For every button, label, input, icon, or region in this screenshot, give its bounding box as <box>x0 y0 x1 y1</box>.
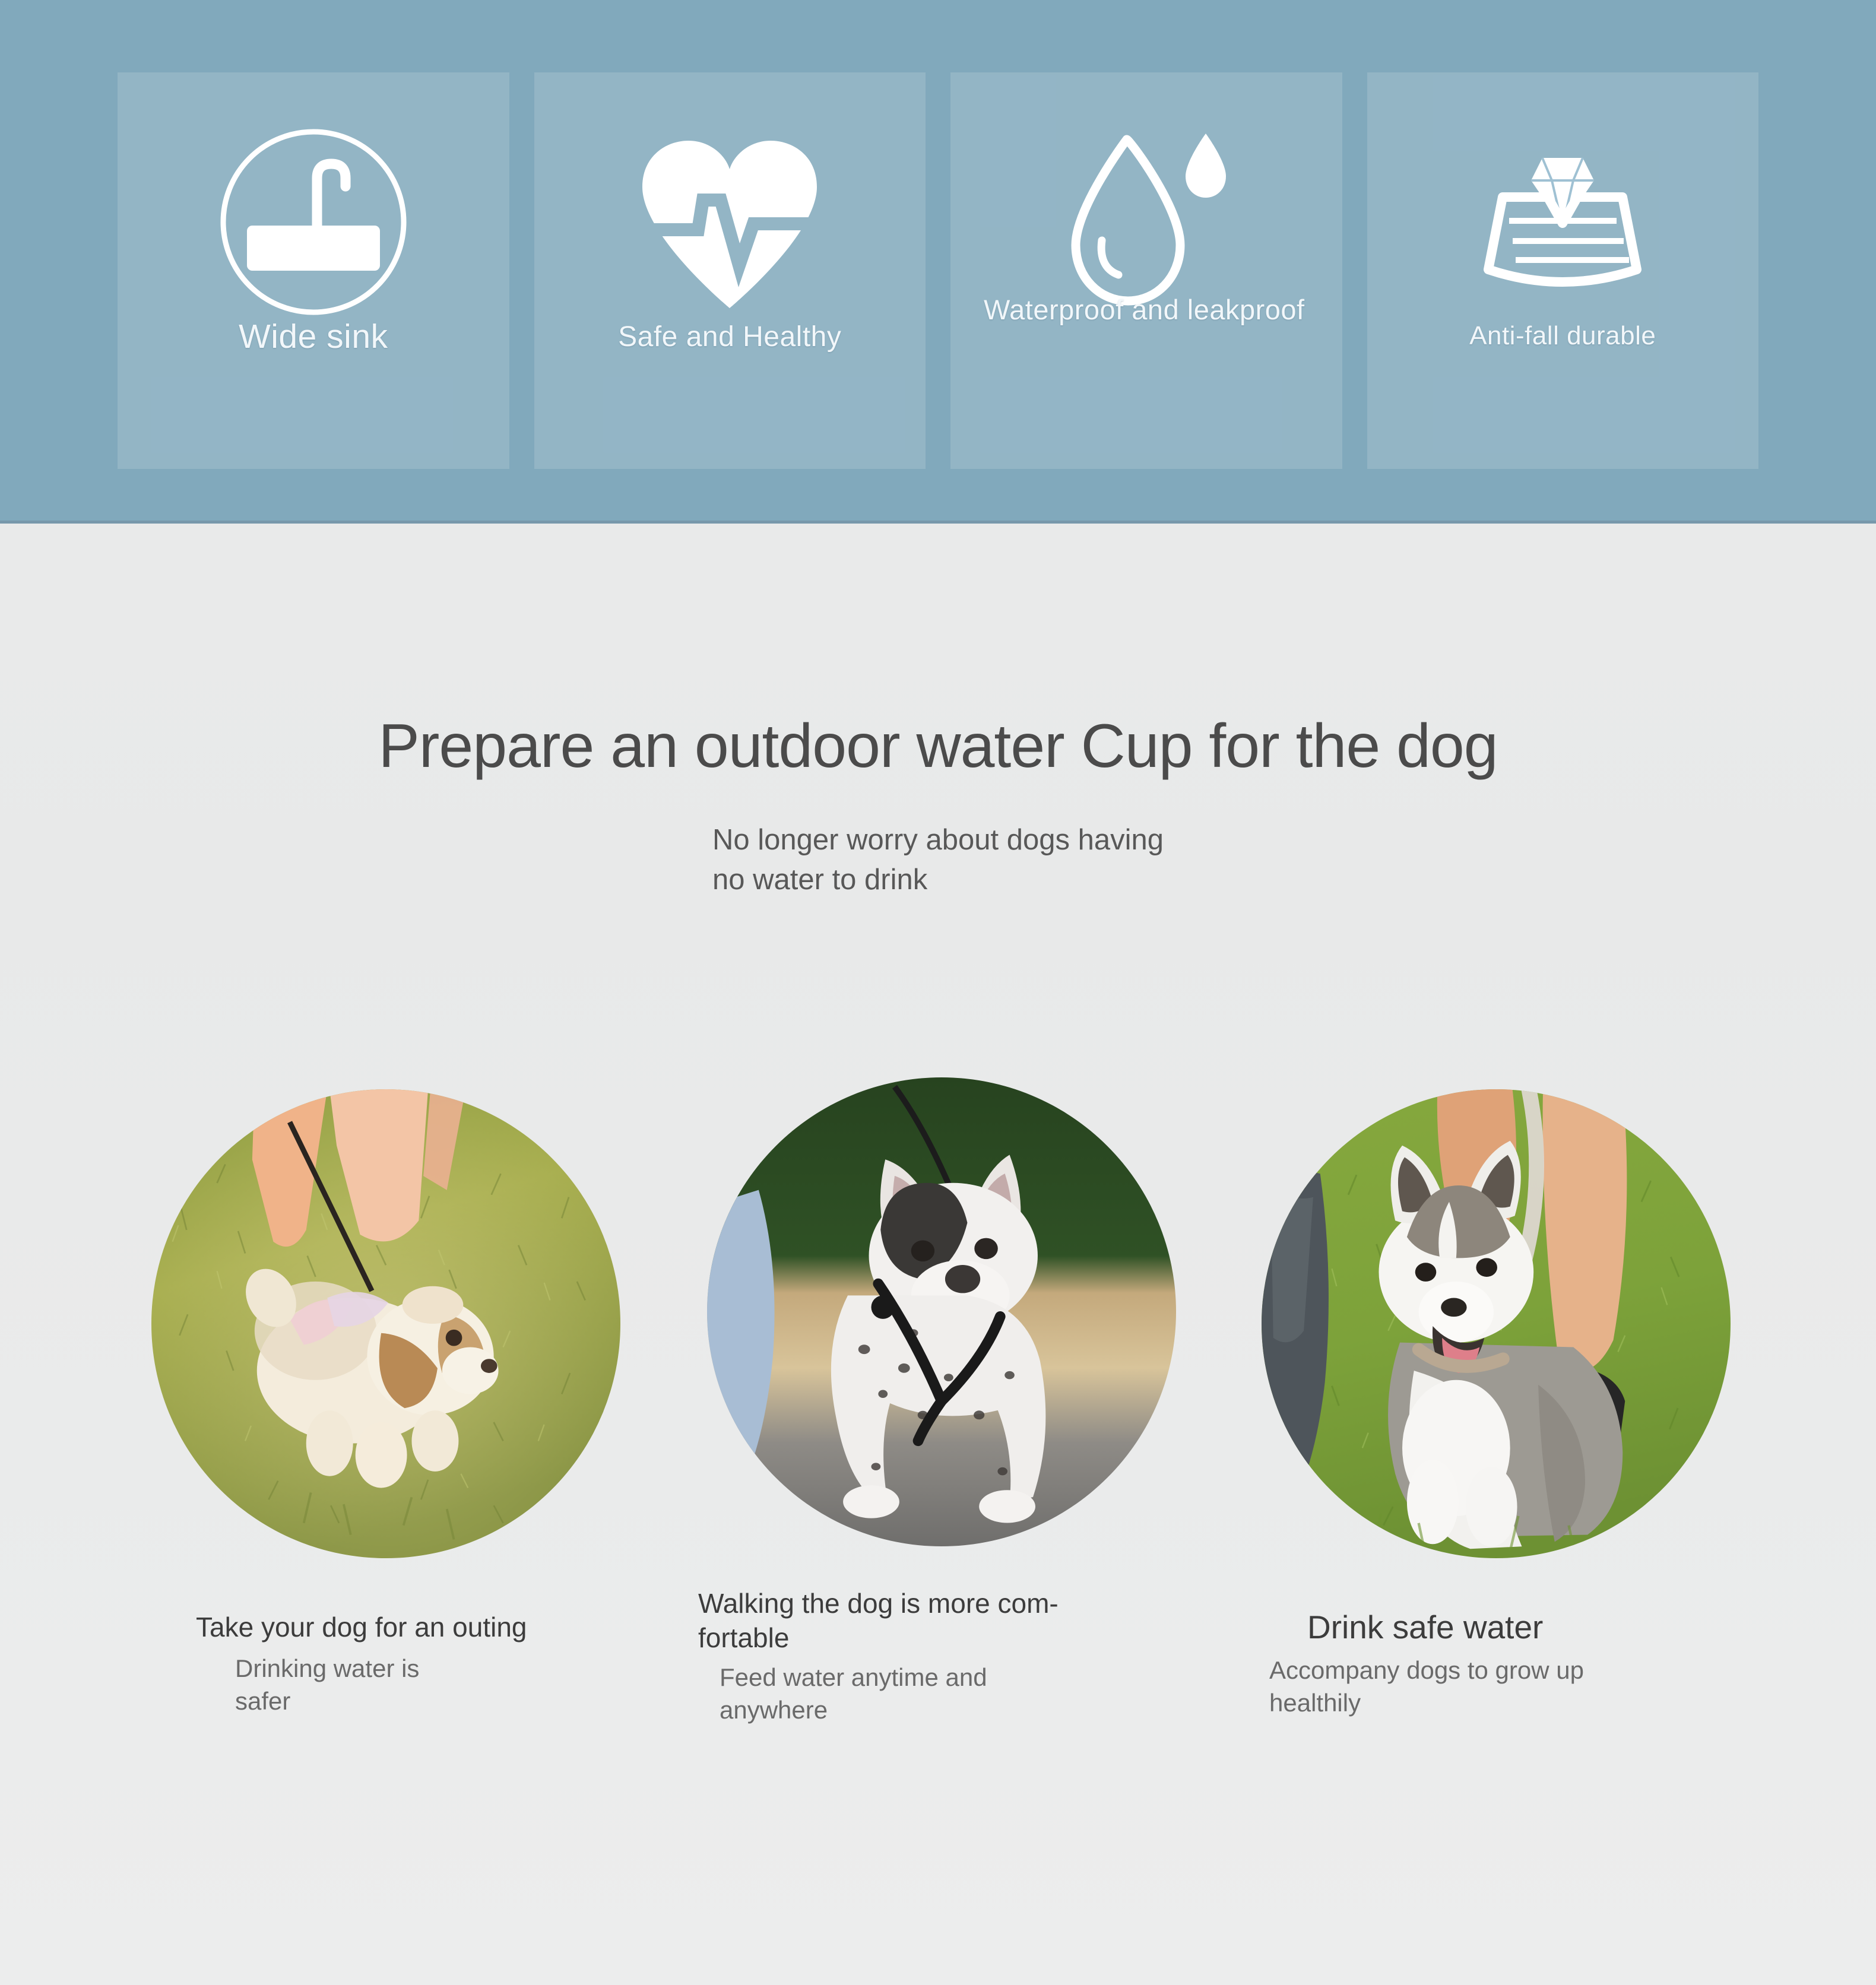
caption-title-2: Walking the dog is more com- fortable <box>698 1587 1114 1655</box>
feature-label-waterproof: Waterproof and leakproof <box>950 293 1342 326</box>
gallery-caption-2: Walking the dog is more com- fortable Fe… <box>698 1587 1114 1727</box>
caption-title-2-line-2: fortable <box>698 1621 1114 1656</box>
caption-sub-1-line-2: safer <box>235 1685 730 1717</box>
caption-title-1: Take your dog for an outing <box>196 1610 730 1645</box>
gallery-caption-1: Take your dog for an outing Drinking wat… <box>196 1610 730 1717</box>
caption-title-3: Drink safe water <box>1307 1607 1804 1648</box>
page-title: Prepare an outdoor water Cup for the dog <box>0 712 1876 780</box>
feature-banner: Wide sink Safe and Healthy <box>0 0 1876 524</box>
caption-sub-2-line-2: anywhere <box>720 1694 1114 1726</box>
feature-card-wide-sink[interactable]: Wide sink <box>118 72 509 469</box>
caption-title-2-line-1: Walking the dog is more com- <box>698 1587 1114 1621</box>
gallery-item-2: Walking the dog is more com- fortable Fe… <box>698 1077 1185 1546</box>
gallery-caption-3: Drink safe water Accompany dogs to grow … <box>1269 1607 1804 1720</box>
page-subtitle-line-2: no water to drink <box>712 860 1164 899</box>
husky-sitting-on-grass-photo <box>1262 1089 1731 1558</box>
caption-sub-1: Drinking water is safer <box>235 1652 730 1718</box>
photo-gallery: Take your dog for an outing Drinking wat… <box>0 1089 1876 1742</box>
page-subtitle: No longer worry about dogs having no wat… <box>712 820 1164 899</box>
heart-pulse-icon <box>617 109 842 335</box>
caption-sub-3-line-1: Accompany dogs to grow up <box>1269 1654 1804 1686</box>
caption-sub-2-line-1: Feed water anytime and <box>720 1661 1114 1694</box>
feature-label-safe-healthy: Safe and Healthy <box>534 321 926 354</box>
feature-card-safe-healthy[interactable]: Safe and Healthy <box>534 72 926 469</box>
feature-card-anti-fall[interactable]: Anti-fall durable <box>1367 72 1759 469</box>
headline-block: Prepare an outdoor water Cup for the dog… <box>0 712 1876 899</box>
caption-sub-3: Accompany dogs to grow up healthily <box>1269 1654 1804 1720</box>
caption-sub-1-line-1: Drinking water is <box>235 1652 730 1685</box>
feature-label-anti-fall: Anti-fall durable <box>1367 321 1759 351</box>
small-fluffy-dog-on-grass-photo <box>151 1089 620 1558</box>
diamond-shield-icon <box>1450 109 1675 335</box>
caption-sub-3-line-2: healthily <box>1269 1686 1804 1719</box>
french-bulldog-on-path-photo <box>707 1077 1176 1546</box>
caption-sub-2: Feed water anytime and anywhere <box>720 1661 1114 1727</box>
feature-card-waterproof[interactable]: Waterproof and leakproof <box>950 72 1342 469</box>
gallery-item-1: Take your dog for an outing Drinking wat… <box>142 1089 629 1558</box>
feature-label-wide-sink: Wide sink <box>118 317 509 357</box>
gallery-item-3: Drink safe water Accompany dogs to grow … <box>1253 1089 1739 1558</box>
feature-card-list: Wide sink Safe and Healthy <box>118 72 1758 469</box>
sink-in-circle-icon <box>201 109 426 335</box>
page-subtitle-line-1: No longer worry about dogs having <box>712 820 1164 860</box>
product-detail-page: Wide sink Safe and Healthy <box>0 0 1876 1985</box>
